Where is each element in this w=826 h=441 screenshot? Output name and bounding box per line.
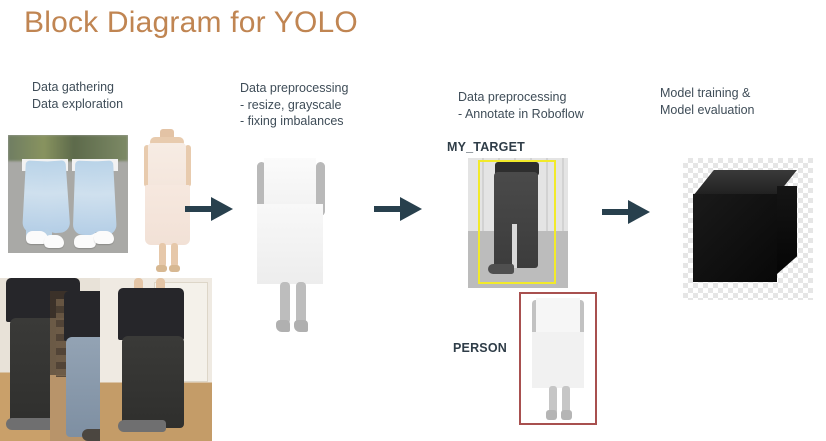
caption-data-gathering: Data gathering Data exploration <box>32 79 123 112</box>
arrow-head-icon <box>400 197 422 221</box>
dress-photo-sandal-left <box>156 265 167 272</box>
arrow-head-icon <box>211 197 233 221</box>
pants-photo-3-top <box>118 288 184 340</box>
jeans-pair-photo <box>8 135 128 253</box>
caption-model-training: Model training & Model evaluation <box>660 85 755 118</box>
annotation-label-my-target: MY_TARGET <box>447 140 525 154</box>
bounding-box-my-target <box>478 160 556 284</box>
jeans-photo-leg-2 <box>42 160 71 233</box>
grayscale-dress-leg-right <box>296 282 306 324</box>
caption-data-preprocessing: Data preprocessing - resize, grayscale -… <box>240 80 348 130</box>
slide-canvas: Block Diagram for YOLO Data gathering Da… <box>0 0 826 441</box>
dress-photo-leg-left <box>159 243 166 267</box>
grayscale-dress-skirt <box>257 204 323 284</box>
pants-photo-3-pants <box>122 336 184 428</box>
annotation-label-person: PERSON <box>453 341 507 355</box>
dress-photo-skirt <box>145 185 190 245</box>
dress-photo-leg-right <box>171 243 178 267</box>
page-title: Block Diagram for YOLO <box>24 6 358 40</box>
jeans-photo-background <box>8 135 128 161</box>
dress-photo-sandal-right <box>169 265 180 272</box>
grayscale-dress-leg-left <box>280 282 290 324</box>
pants-photo-3 <box>100 278 212 441</box>
caption-annotation: Data preprocessing - Annotate in Roboflo… <box>458 89 584 122</box>
grayscale-dress-photo <box>236 152 346 344</box>
grayscale-dress-heel-left <box>276 320 290 332</box>
cube-side-face <box>777 186 797 274</box>
arrow-head-icon <box>628 200 650 224</box>
grayscale-dress-heel-right <box>294 320 308 332</box>
arrow-shaft <box>602 209 630 215</box>
jeans-photo-shoe-2 <box>44 235 64 248</box>
dress-photo-bodice <box>148 143 186 189</box>
bounding-box-person <box>519 292 597 425</box>
cube-front-face <box>693 194 777 282</box>
dress-photo <box>128 125 206 277</box>
jeans-photo-leg-4 <box>90 160 117 235</box>
jeans-photo-shoe-4 <box>94 231 114 244</box>
grayscale-dress-bodice <box>264 158 316 210</box>
arrow-shaft <box>185 206 213 212</box>
pants-photo-3-shoe <box>118 420 166 432</box>
arrow-shaft <box>374 206 402 212</box>
black-cube-model <box>683 158 813 300</box>
jeans-photo-shoe-3 <box>74 235 96 248</box>
